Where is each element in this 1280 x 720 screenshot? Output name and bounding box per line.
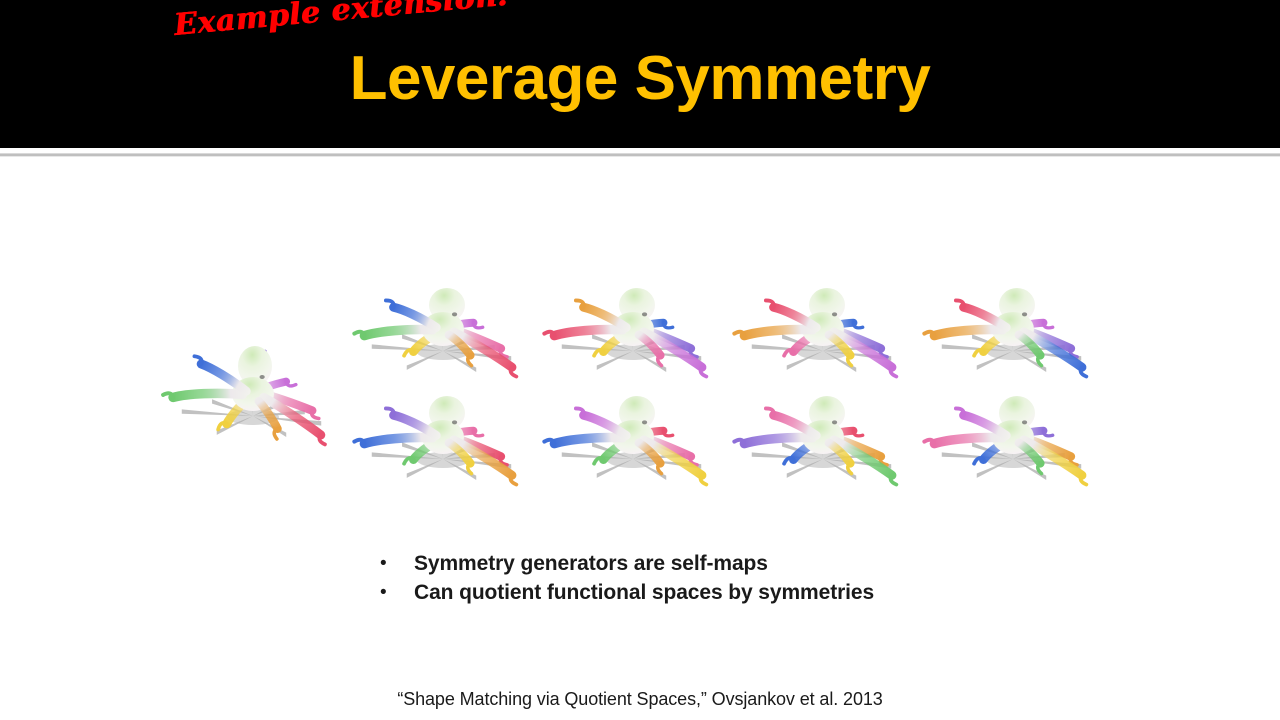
source-octopus-image <box>158 330 348 462</box>
bullet-marker: • <box>380 549 392 578</box>
bullet-text: Symmetry generators are self-maps <box>414 549 768 578</box>
octopus-variant-7 <box>728 373 918 505</box>
presentation-slide: Example extension: Leverage Symmetry • S… <box>0 0 1280 720</box>
bullet-list: • Symmetry generators are self-maps • Ca… <box>380 549 1120 607</box>
bullet-marker: • <box>380 578 392 607</box>
symmetry-figure <box>0 240 1280 530</box>
citation-text: “Shape Matching via Quotient Spaces,” Ov… <box>0 687 1280 711</box>
page-title: Leverage Symmetry <box>0 46 1280 112</box>
list-item: • Can quotient functional spaces by symm… <box>380 578 1120 607</box>
divider-line <box>0 153 1280 157</box>
octopus-variant-5 <box>348 373 538 505</box>
bullet-text: Can quotient functional spaces by symmet… <box>414 578 874 607</box>
octopus-variant-8 <box>918 373 1108 505</box>
list-item: • Symmetry generators are self-maps <box>380 549 1120 578</box>
octopus-variant-6 <box>538 373 728 505</box>
